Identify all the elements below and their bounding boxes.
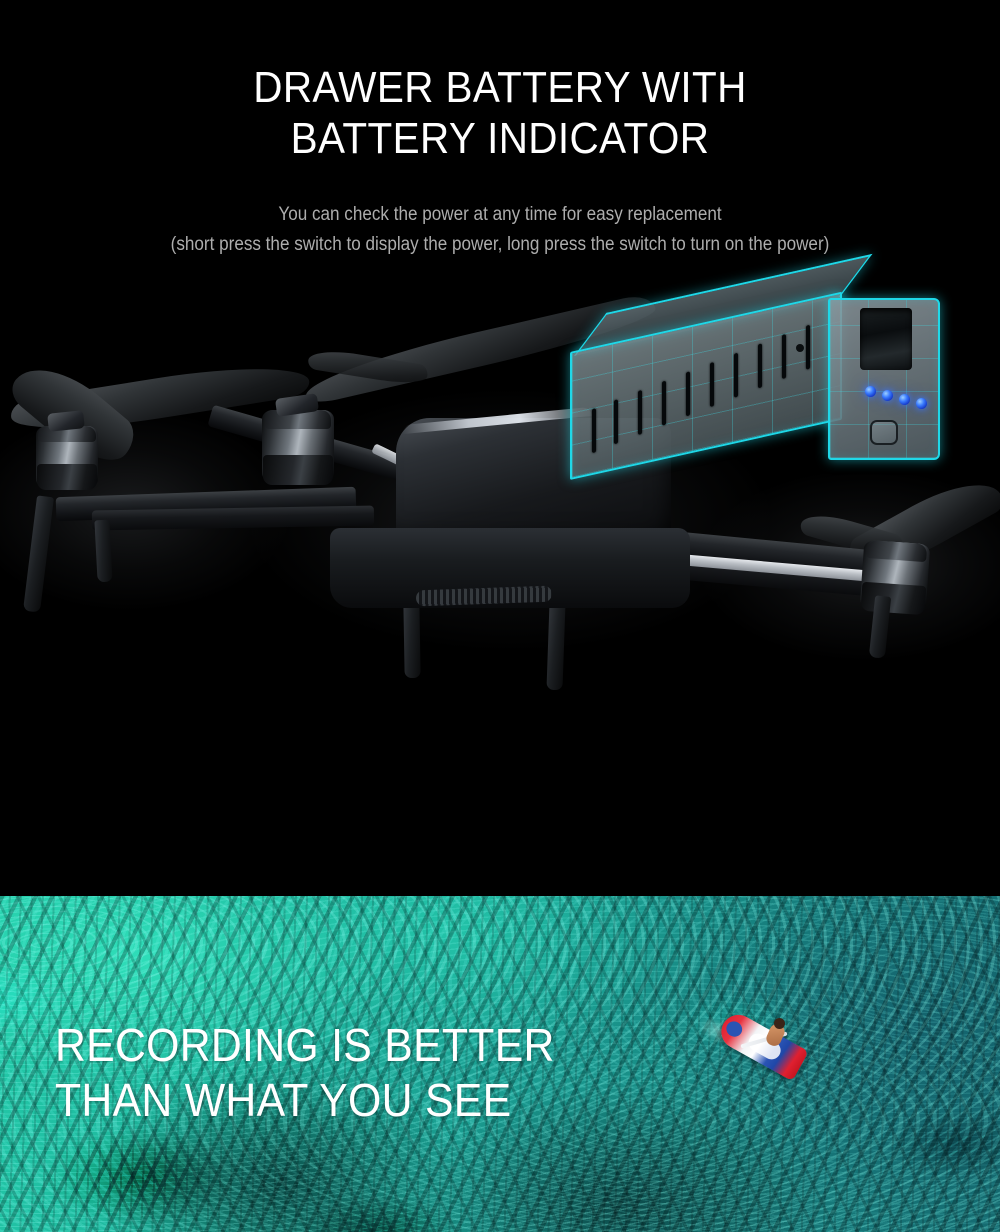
landing-leg-front-left — [23, 495, 54, 612]
battery-feature-section: DRAWER BATTERY WITH BATTERY INDICATOR Yo… — [0, 0, 1000, 896]
battery-vent-slot — [686, 371, 690, 416]
board-nose-graphic — [724, 1019, 745, 1040]
battery-grip-slot — [860, 308, 912, 370]
battery-headline-line-1: DRAWER BATTERY WITH — [40, 62, 960, 113]
battery-led-indicator-4 — [916, 398, 927, 409]
ocean-headline-line-1: RECORDING IS BETTER — [55, 1018, 555, 1073]
battery-vent-slot — [638, 390, 642, 435]
battery-led-indicator-3 — [899, 394, 910, 405]
battery-vent-slot — [782, 334, 786, 379]
battery-vent-slot — [614, 399, 618, 444]
paddler-head — [774, 1018, 785, 1029]
battery-power-button[interactable] — [870, 420, 898, 445]
motor-band-bottom — [263, 455, 332, 485]
paddleboarder-subject — [718, 1012, 810, 1084]
battery-headline: DRAWER BATTERY WITH BATTERY INDICATOR — [40, 62, 960, 164]
battery-screw-dot — [796, 344, 804, 352]
landing-leg-rear-left — [94, 520, 112, 583]
motor-right — [860, 540, 931, 612]
propeller-hub-front-left — [47, 410, 85, 432]
motor-band-bottom — [37, 464, 97, 490]
motor-rear-left — [262, 410, 334, 482]
ocean-headline-line-2: THAN WHAT YOU SEE — [55, 1073, 555, 1128]
battery-vent-slot — [758, 343, 762, 388]
motor-band-bottom — [861, 582, 926, 615]
battery-vent-slot — [734, 353, 738, 398]
paddle-board — [715, 1009, 808, 1081]
landing-leg-center-right — [546, 602, 565, 691]
landing-leg-center — [403, 600, 420, 678]
battery-vent-slot — [662, 381, 666, 426]
arm-front-left-lower — [92, 506, 374, 531]
ocean-headline: RECORDING IS BETTER THAN WHAT YOU SEE — [55, 1018, 555, 1128]
battery-headline-line-2: BATTERY INDICATOR — [40, 113, 960, 164]
battery-led-indicator-2 — [882, 390, 893, 401]
battery-led-indicator-1 — [865, 386, 876, 397]
drone-product-illustration — [0, 270, 1000, 700]
drawer-battery-module — [560, 280, 960, 550]
battery-subtitle-line-1: You can check the power at any time for … — [50, 200, 950, 230]
battery-vent-slot — [592, 408, 596, 453]
motor-front-left — [36, 426, 98, 488]
battery-vent-slot — [710, 362, 714, 407]
battery-subtitle: You can check the power at any time for … — [50, 200, 950, 260]
battery-vent-slot — [806, 325, 810, 370]
battery-subtitle-line-2: (short press the switch to display the p… — [50, 230, 950, 260]
